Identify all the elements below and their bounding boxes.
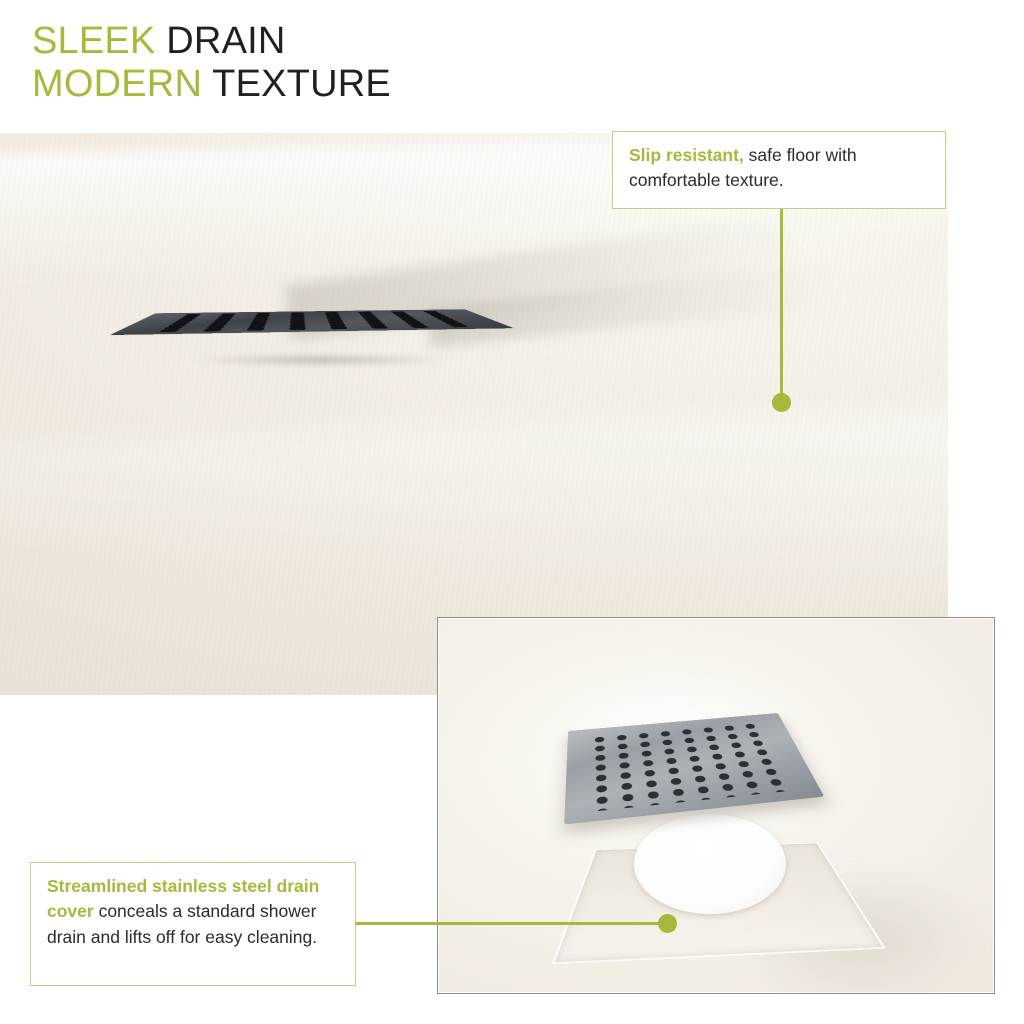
infographic-page: SLEEK DRAIN MODERN TEXTURE [0, 0, 1024, 1024]
hero-grate-hole-pattern [144, 311, 483, 333]
page-title: SLEEK DRAIN MODERN TEXTURE [32, 20, 732, 106]
callout-bottom-marker-dot [658, 914, 677, 933]
callout-top-leader-line [780, 208, 783, 403]
callout-slip-resistant-bold: Slip resistant, [629, 145, 744, 165]
inset-grate-plate [564, 713, 824, 824]
page-title-line-1-rest: DRAIN [156, 20, 286, 62]
callout-slip-resistant: Slip resistant, safe floor with comforta… [612, 131, 946, 209]
page-title-line-1-accent: SLEEK [32, 20, 156, 62]
inset-closeup-photo [437, 617, 995, 994]
callout-top-marker-dot [772, 393, 791, 412]
callout-bottom-leader-line [355, 922, 668, 925]
page-title-line-2: MODERN TEXTURE [32, 63, 732, 106]
inset-grate-hole-pattern [588, 721, 798, 812]
hero-product-photo [0, 133, 948, 695]
page-title-line-1: SLEEK DRAIN [32, 20, 732, 63]
page-title-line-2-accent: MODERN [32, 63, 202, 105]
hero-drain-grate [142, 279, 492, 361]
photo-vignette [0, 133, 948, 695]
removable-drain-cover [568, 680, 808, 830]
callout-drain-cover: Streamlined stainless steel drain cover … [30, 862, 356, 986]
page-title-line-2-rest: TEXTURE [202, 63, 391, 105]
hero-grate-plate [110, 309, 513, 335]
